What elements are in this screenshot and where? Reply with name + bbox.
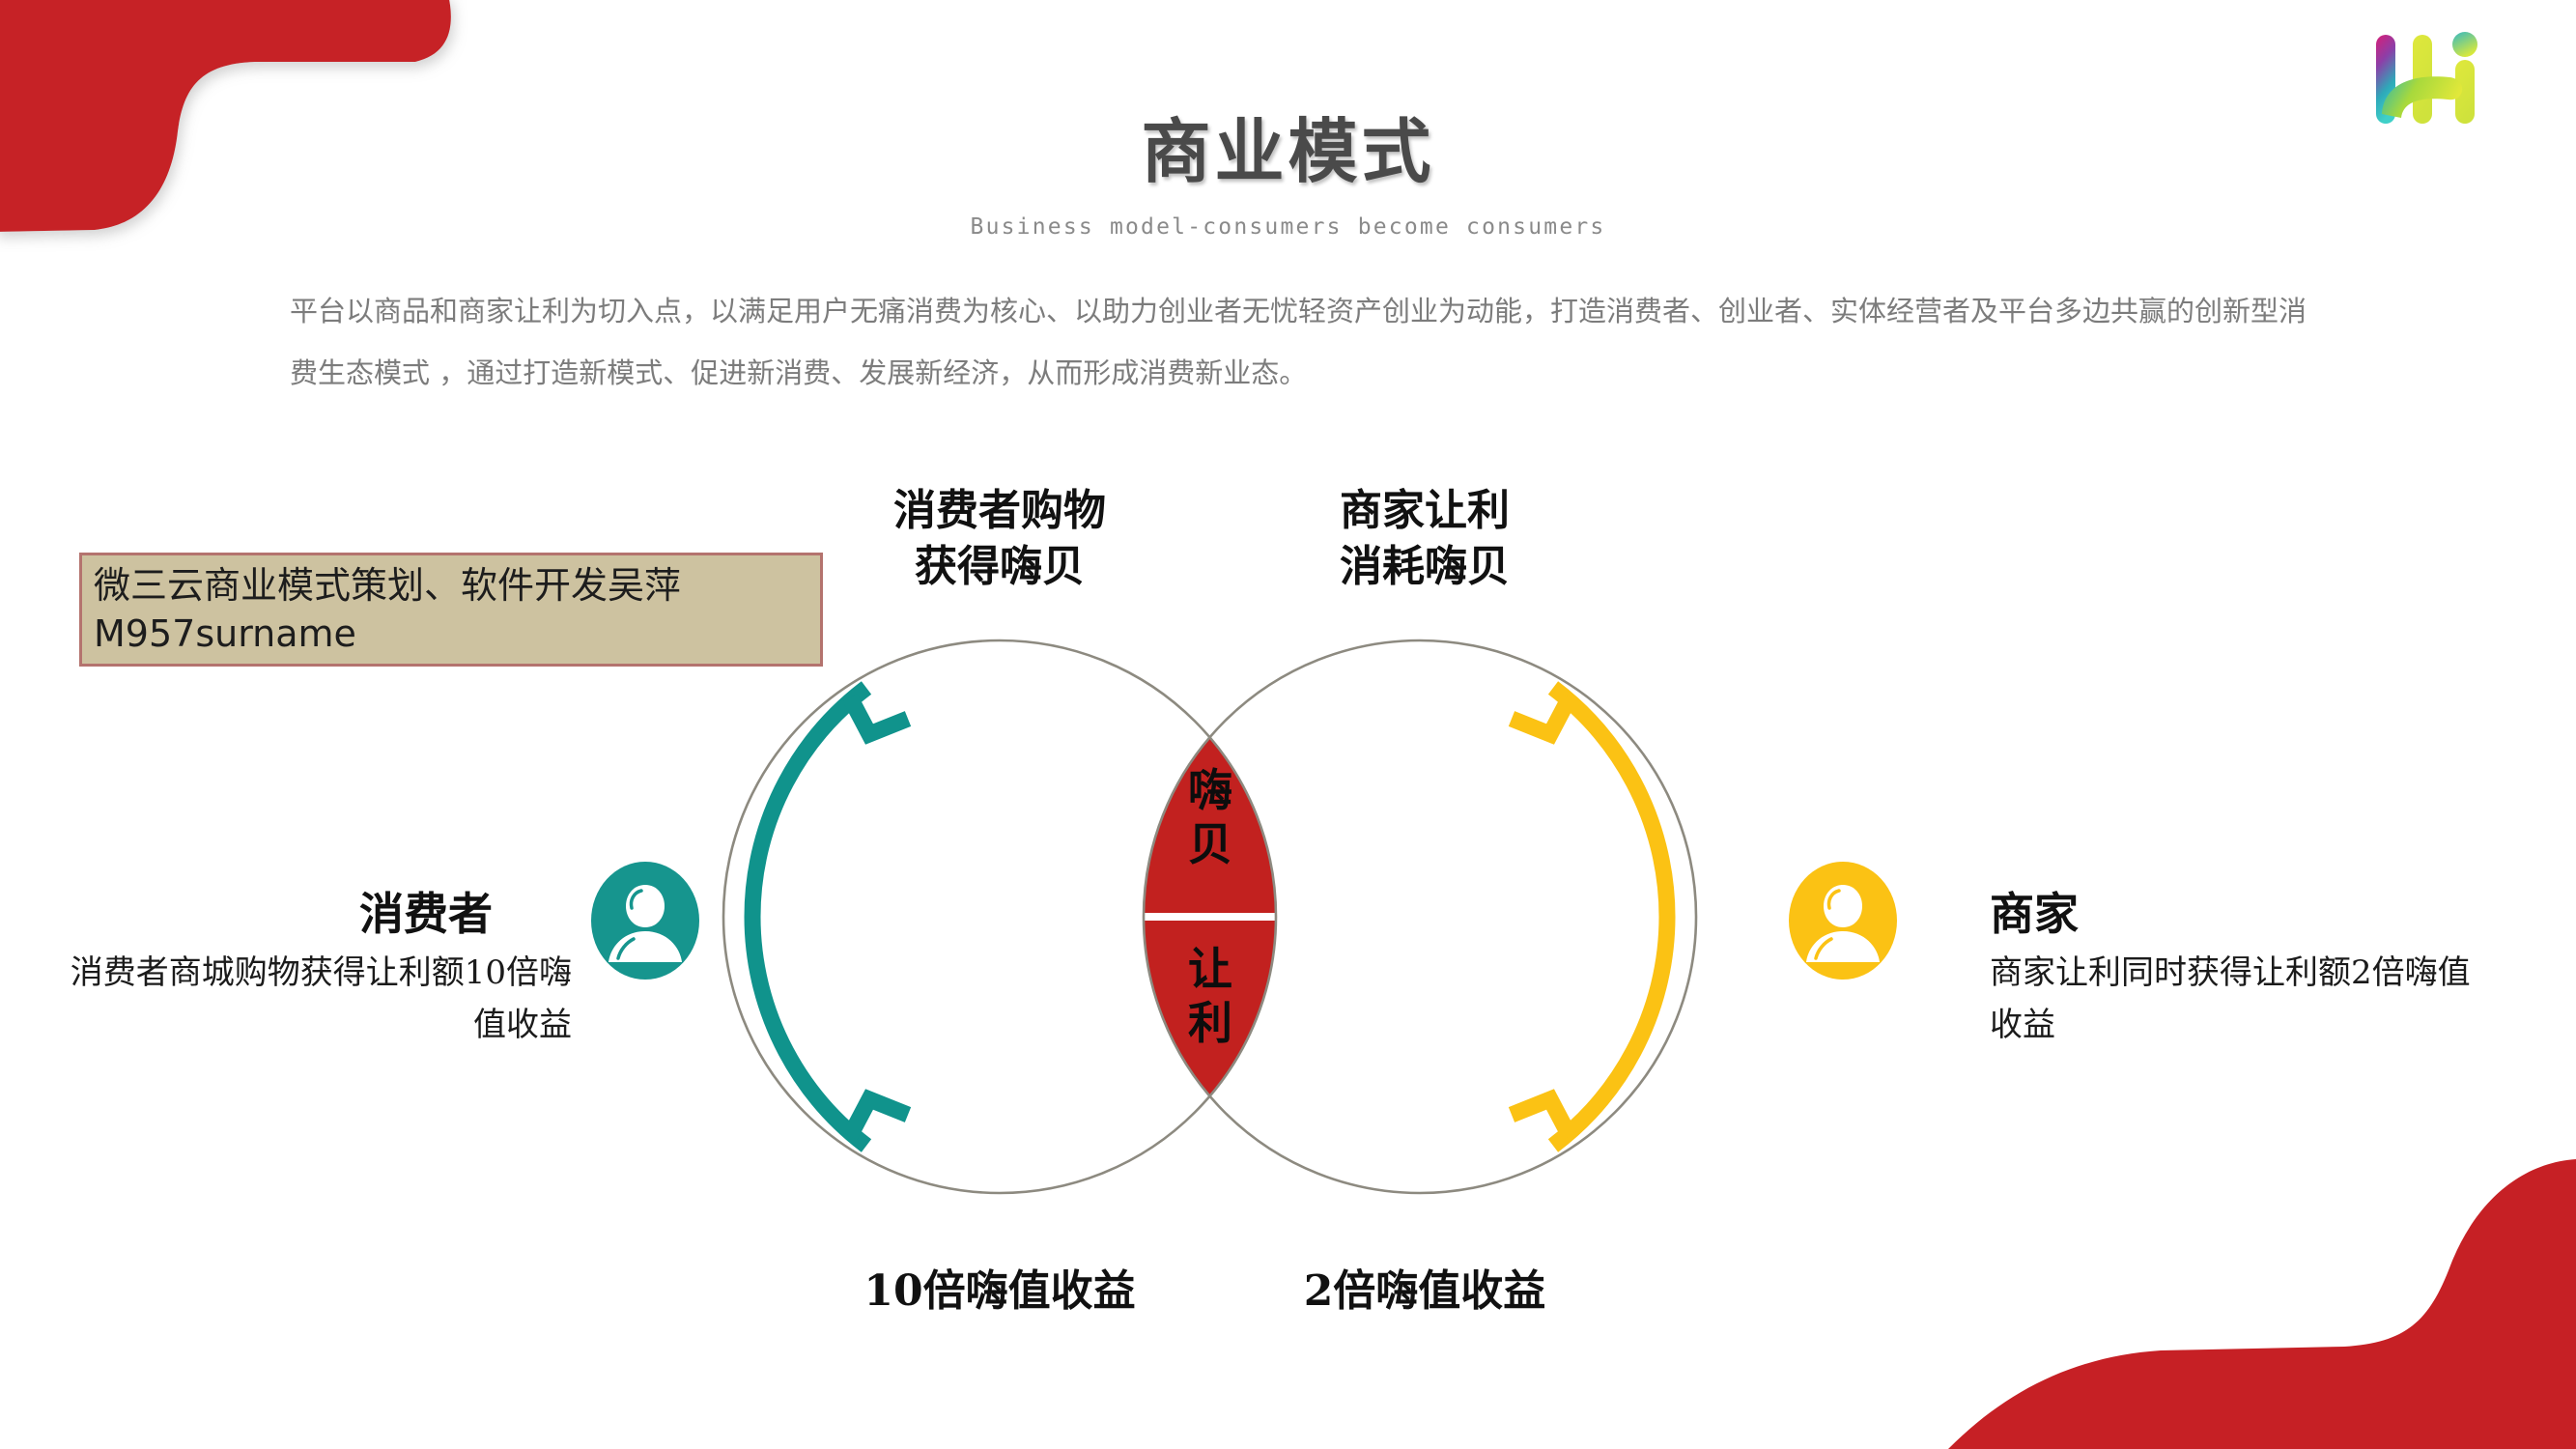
left-circle-top-label: 消费者购物 获得嗨贝 xyxy=(792,483,1207,595)
person-icon xyxy=(1789,862,1897,980)
venn-diagram xyxy=(0,0,2576,1449)
person-icon xyxy=(591,862,699,980)
lens-bottom-label: 让利 xyxy=(1176,942,1244,1050)
right-circle-bottom-label: 2倍嗨值收益 xyxy=(1217,1256,1632,1318)
persona-consumer-title: 消费者 xyxy=(359,879,493,943)
slide-canvas: 商业模式 Business model-consumers become con… xyxy=(0,0,2576,1449)
lens-top-label: 嗨贝 xyxy=(1176,763,1244,871)
persona-merchant-description: 商家让利同时获得让利额2倍嗨值收益 xyxy=(1990,947,2492,1051)
left-circle-bottom-label: 10倍嗨值收益 xyxy=(792,1256,1207,1318)
right-circle-top-label: 商家让利 消耗嗨贝 xyxy=(1217,483,1632,595)
overlap-lens xyxy=(1143,640,1696,1193)
persona-consumer-description: 消费者商城购物获得让利额10倍嗨值收益 xyxy=(70,947,572,1051)
persona-merchant-title: 商家 xyxy=(1990,879,2079,943)
